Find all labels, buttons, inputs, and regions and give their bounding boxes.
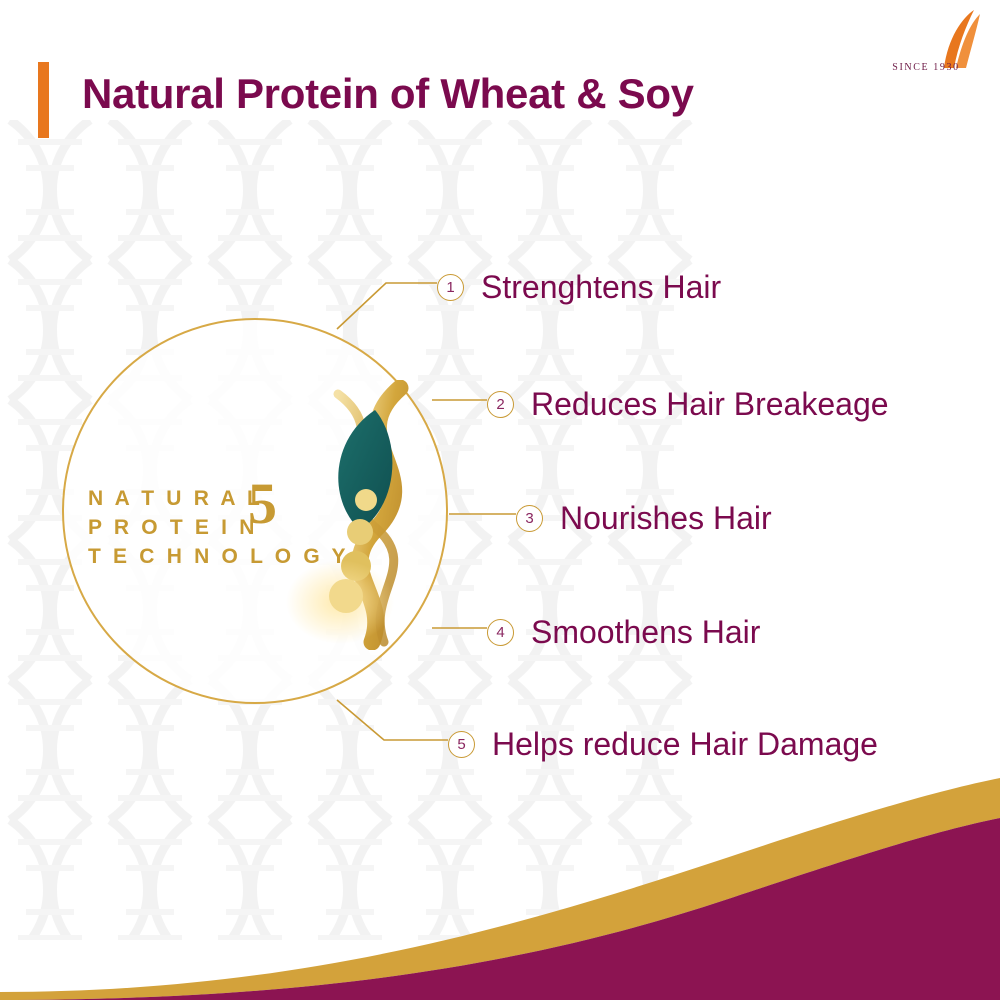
benefit-label-2: Reduces Hair Breakeage bbox=[531, 386, 889, 423]
benefit-label-4: Smoothens Hair bbox=[531, 614, 760, 651]
benefit-bullet-4: 4 bbox=[487, 619, 514, 646]
benefit-item-3: 3 Nourishes Hair bbox=[516, 500, 772, 537]
benefit-label-1: Strenghtens Hair bbox=[481, 269, 721, 306]
benefit-item-1: 1 Strenghtens Hair bbox=[437, 269, 721, 306]
benefit-item-4: 4 Smoothens Hair bbox=[487, 614, 760, 651]
badge-line-1: N A T U R A L bbox=[88, 484, 318, 513]
badge-line-2: P R O T E I N bbox=[88, 513, 318, 542]
benefit-bullet-1: 1 bbox=[437, 274, 464, 301]
footer-wave-decoration bbox=[0, 740, 1000, 1000]
accent-bar bbox=[38, 62, 49, 138]
page-title: Natural Protein of Wheat & Soy bbox=[82, 70, 694, 118]
badge-text: N A T U R A L P R O T E I N T E C H N O … bbox=[88, 484, 318, 571]
benefit-bullet-3: 3 bbox=[516, 505, 543, 532]
badge-line-3: T E C H N O L O G Y bbox=[88, 542, 318, 571]
infographic-page: Natural Protein of Wheat & Soy SINCE 193… bbox=[0, 0, 1000, 1000]
benefit-label-3: Nourishes Hair bbox=[560, 500, 772, 537]
benefit-bullet-2: 2 bbox=[487, 391, 514, 418]
benefit-item-2: 2 Reduces Hair Breakeage bbox=[487, 386, 889, 423]
badge-number: 5 bbox=[248, 470, 277, 537]
since-label: SINCE 1930 bbox=[870, 62, 982, 73]
